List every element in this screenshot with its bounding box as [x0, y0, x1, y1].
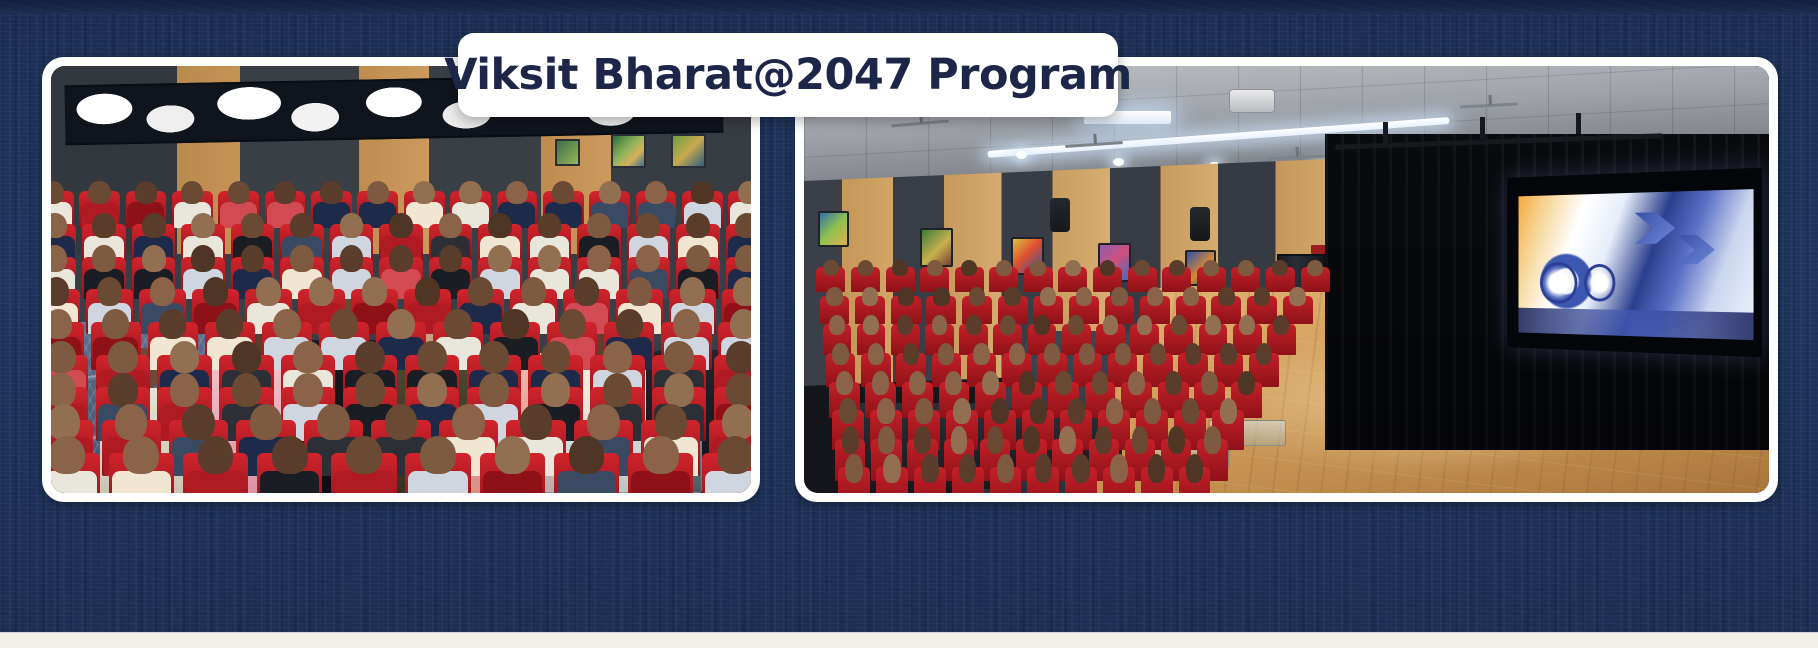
attendee-head — [290, 245, 314, 272]
attendee-head — [1307, 260, 1323, 276]
wall-speaker-icon — [1190, 207, 1210, 241]
chevron-graphic-icon — [1634, 211, 1675, 244]
hall-audience — [814, 245, 1354, 493]
attendee-head — [569, 436, 605, 474]
attendee-head — [142, 213, 166, 238]
attendee-head — [1289, 287, 1305, 305]
attendee-head — [1148, 454, 1165, 483]
audience-seat — [51, 430, 104, 493]
attendee-head — [961, 260, 977, 276]
audience-seat — [253, 430, 327, 493]
attendee-head — [829, 315, 845, 335]
attendee-head — [415, 277, 440, 306]
attendee-head — [198, 436, 234, 474]
audience-row — [835, 446, 1213, 493]
audience-seat — [911, 446, 949, 493]
auditorium-audience-scene — [51, 66, 751, 493]
audience-seat — [987, 446, 1025, 493]
framed-artwork-icon — [671, 134, 706, 168]
screenshot-root: Viksit Bharat@2047 Program — [0, 0, 1818, 648]
attendee-head — [927, 260, 943, 276]
attendee-torso — [631, 471, 690, 493]
attendee-head — [506, 181, 528, 204]
attendee-head — [488, 213, 512, 238]
attendee-head — [903, 343, 919, 365]
title-card: Viksit Bharat@2047 Program — [458, 33, 1118, 117]
attendee-head — [92, 213, 116, 238]
attendee-head — [574, 277, 599, 306]
chevron-graphic-icon — [1677, 234, 1714, 264]
audience-seating — [51, 177, 751, 493]
page-title: Viksit Bharat@2047 Program — [444, 50, 1132, 100]
attendee-head — [1137, 315, 1153, 335]
attendee-head — [832, 343, 848, 365]
attendee-head — [1004, 287, 1020, 305]
attendee-head — [959, 454, 976, 483]
attendee-head — [738, 181, 751, 204]
attendee-head — [150, 277, 175, 306]
banner-top-strip — [0, 0, 1818, 14]
attendee-head — [1030, 260, 1046, 276]
attendee-head — [272, 436, 308, 474]
attendee-head — [636, 245, 660, 272]
audience-seat — [1176, 446, 1214, 493]
attendee-head — [933, 287, 949, 305]
audience-seat — [949, 446, 987, 493]
attendee-head — [1169, 260, 1185, 276]
attendee-head — [686, 245, 710, 272]
attendee-head — [1072, 454, 1089, 483]
attendee-torso — [408, 471, 467, 493]
projection-screen-content — [1518, 189, 1753, 340]
attendee-head — [1220, 343, 1236, 365]
attendee-head — [191, 245, 215, 272]
ceiling-spotlight-icon — [1113, 158, 1124, 166]
attendee-head — [587, 213, 611, 238]
attendee-head — [858, 260, 874, 276]
attendee-head — [735, 245, 751, 272]
attendee-head — [142, 245, 166, 272]
audience-seat — [873, 446, 911, 493]
attendee-head — [290, 213, 314, 238]
attendee-head — [733, 277, 751, 306]
attendee-head — [1103, 315, 1119, 335]
wall-speaker-icon — [1050, 198, 1070, 232]
attendee-head — [587, 245, 611, 272]
attendee-head — [1171, 315, 1187, 335]
attendee-head — [1076, 287, 1092, 305]
attendee-head — [627, 277, 652, 306]
attendee-head — [996, 260, 1012, 276]
attendee-head — [51, 213, 67, 238]
photo-card-audience-front — [42, 57, 760, 502]
attendee-head — [346, 436, 382, 474]
attendee-head — [274, 181, 296, 204]
attendee-head — [892, 260, 908, 276]
attendee-head — [717, 436, 751, 474]
attendee-head — [883, 454, 900, 483]
attendee-head — [552, 181, 574, 204]
projector-icon — [1229, 89, 1275, 113]
audience-seat — [475, 430, 549, 493]
attendee-head — [228, 181, 250, 204]
audience-seat — [178, 430, 252, 493]
bottom-strip — [0, 632, 1818, 648]
attendee-head — [691, 181, 713, 204]
attendee-head — [203, 277, 228, 306]
photo-audience-front — [51, 66, 751, 493]
audience-seat — [1024, 446, 1062, 493]
attendee-head — [1203, 260, 1219, 276]
attendee-torso — [334, 471, 393, 493]
attendee-head — [932, 315, 948, 335]
attendee-head — [1239, 315, 1255, 335]
attendee-head — [468, 277, 493, 306]
attendee-head — [1000, 315, 1016, 335]
attendee-head — [826, 287, 842, 305]
attendee-head — [1040, 287, 1056, 305]
attendee-head — [1100, 260, 1116, 276]
attendee-head — [1273, 315, 1289, 335]
attendee-head — [897, 315, 913, 335]
photo-card-hall-side — [795, 57, 1778, 502]
photo-hall-side — [804, 66, 1769, 493]
attendee-head — [123, 436, 159, 474]
attendee-torso — [483, 471, 542, 493]
attendee-head — [1044, 343, 1060, 365]
framed-artwork-icon — [555, 139, 580, 167]
framed-artwork-icon — [818, 211, 849, 247]
attendee-head — [88, 181, 110, 204]
attendee-head — [389, 245, 413, 272]
attendee-head — [1183, 287, 1199, 305]
audience-seat — [835, 446, 873, 493]
attendee-head — [862, 287, 878, 305]
attendee-head — [320, 181, 342, 204]
attendee-head — [636, 213, 660, 238]
attendee-head — [340, 245, 364, 272]
audience-seat — [104, 430, 178, 493]
attendee-head — [1185, 343, 1201, 365]
audience-seat — [1138, 446, 1176, 493]
attendee-head — [966, 315, 982, 335]
attendee-head — [521, 277, 546, 306]
attendee-torso — [557, 471, 616, 493]
attendee-head — [439, 213, 463, 238]
attendee-head — [538, 213, 562, 238]
attendee-head — [1147, 287, 1163, 305]
attendee-head — [1254, 287, 1270, 305]
attendee-head — [1272, 260, 1288, 276]
attendee-head — [1238, 260, 1254, 276]
attendee-head — [921, 454, 938, 483]
attendee-head — [1034, 315, 1050, 335]
attendee-head — [1079, 343, 1095, 365]
attendee-torso — [51, 471, 97, 493]
attendee-head — [686, 213, 710, 238]
attendee-head — [495, 436, 531, 474]
attendee-head — [845, 454, 862, 483]
ashoka-chakra-icon — [1540, 261, 1577, 303]
attendee-head — [241, 245, 265, 272]
truss-leg — [1383, 122, 1388, 143]
auditorium-stage-scene — [804, 66, 1769, 493]
attendee-head — [1110, 454, 1127, 483]
attendee-head — [309, 277, 334, 306]
attendee-head — [1256, 343, 1272, 365]
attendee-head — [863, 315, 879, 335]
attendee-head — [51, 245, 67, 272]
attendee-torso — [112, 471, 171, 493]
attendee-head — [97, 277, 122, 306]
audience-seat — [1062, 446, 1100, 493]
framed-artwork-icon — [611, 134, 646, 168]
attendee-head — [645, 181, 667, 204]
attendee-head — [1186, 454, 1203, 483]
attendee-head — [997, 454, 1014, 483]
audience-seat — [698, 430, 751, 493]
attendee-torso — [705, 471, 751, 493]
attendee-head — [367, 181, 389, 204]
audience-seat — [401, 430, 475, 493]
attendee-head — [51, 277, 69, 306]
attendee-head — [92, 245, 116, 272]
attendee-head — [1111, 287, 1127, 305]
ashoka-chakra-icon — [1584, 264, 1616, 301]
audience-seat — [549, 430, 623, 493]
attendee-head — [459, 181, 481, 204]
attendee-head — [191, 213, 215, 238]
attendee-head — [1218, 287, 1234, 305]
attendee-torso — [260, 471, 319, 493]
attendee-head — [599, 181, 621, 204]
audience-seat — [327, 430, 401, 493]
attendee-head — [439, 245, 463, 272]
attendee-head — [362, 277, 387, 306]
attendee-head — [1134, 260, 1150, 276]
attendee-head — [969, 287, 985, 305]
attendee-head — [898, 287, 914, 305]
attendee-head — [643, 436, 679, 474]
attendee-head — [1115, 343, 1131, 365]
broadcast-lower-band — [1518, 308, 1753, 340]
projection-screen — [1507, 167, 1762, 357]
attendee-head — [1068, 315, 1084, 335]
attendee-head — [420, 436, 456, 474]
attendee-head — [488, 245, 512, 272]
attendee-head — [538, 245, 562, 272]
attendee-head — [1065, 260, 1081, 276]
attendee-head — [1035, 454, 1052, 483]
attendee-head — [241, 213, 265, 238]
attendee-head — [413, 181, 435, 204]
audience-seat — [1100, 446, 1138, 493]
attendee-head — [135, 181, 157, 204]
truss-leg — [1576, 113, 1581, 134]
attendee-head — [51, 436, 85, 474]
attendee-torso — [186, 471, 245, 493]
attendee-head — [680, 277, 705, 306]
truss-leg — [1480, 117, 1485, 138]
audience-seat — [624, 430, 698, 493]
attendee-head — [389, 213, 413, 238]
attendee-head — [181, 181, 203, 204]
attendee-head — [823, 260, 839, 276]
attendee-head — [938, 343, 954, 365]
attendee-head — [1205, 315, 1221, 335]
audience-row — [51, 430, 751, 493]
attendee-head — [1150, 343, 1166, 365]
attendee-head — [1009, 343, 1025, 365]
attendee-head — [340, 213, 364, 238]
attendee-head — [735, 213, 751, 238]
attendee-head — [973, 343, 989, 365]
attendee-head — [256, 277, 281, 306]
attendee-head — [868, 343, 884, 365]
